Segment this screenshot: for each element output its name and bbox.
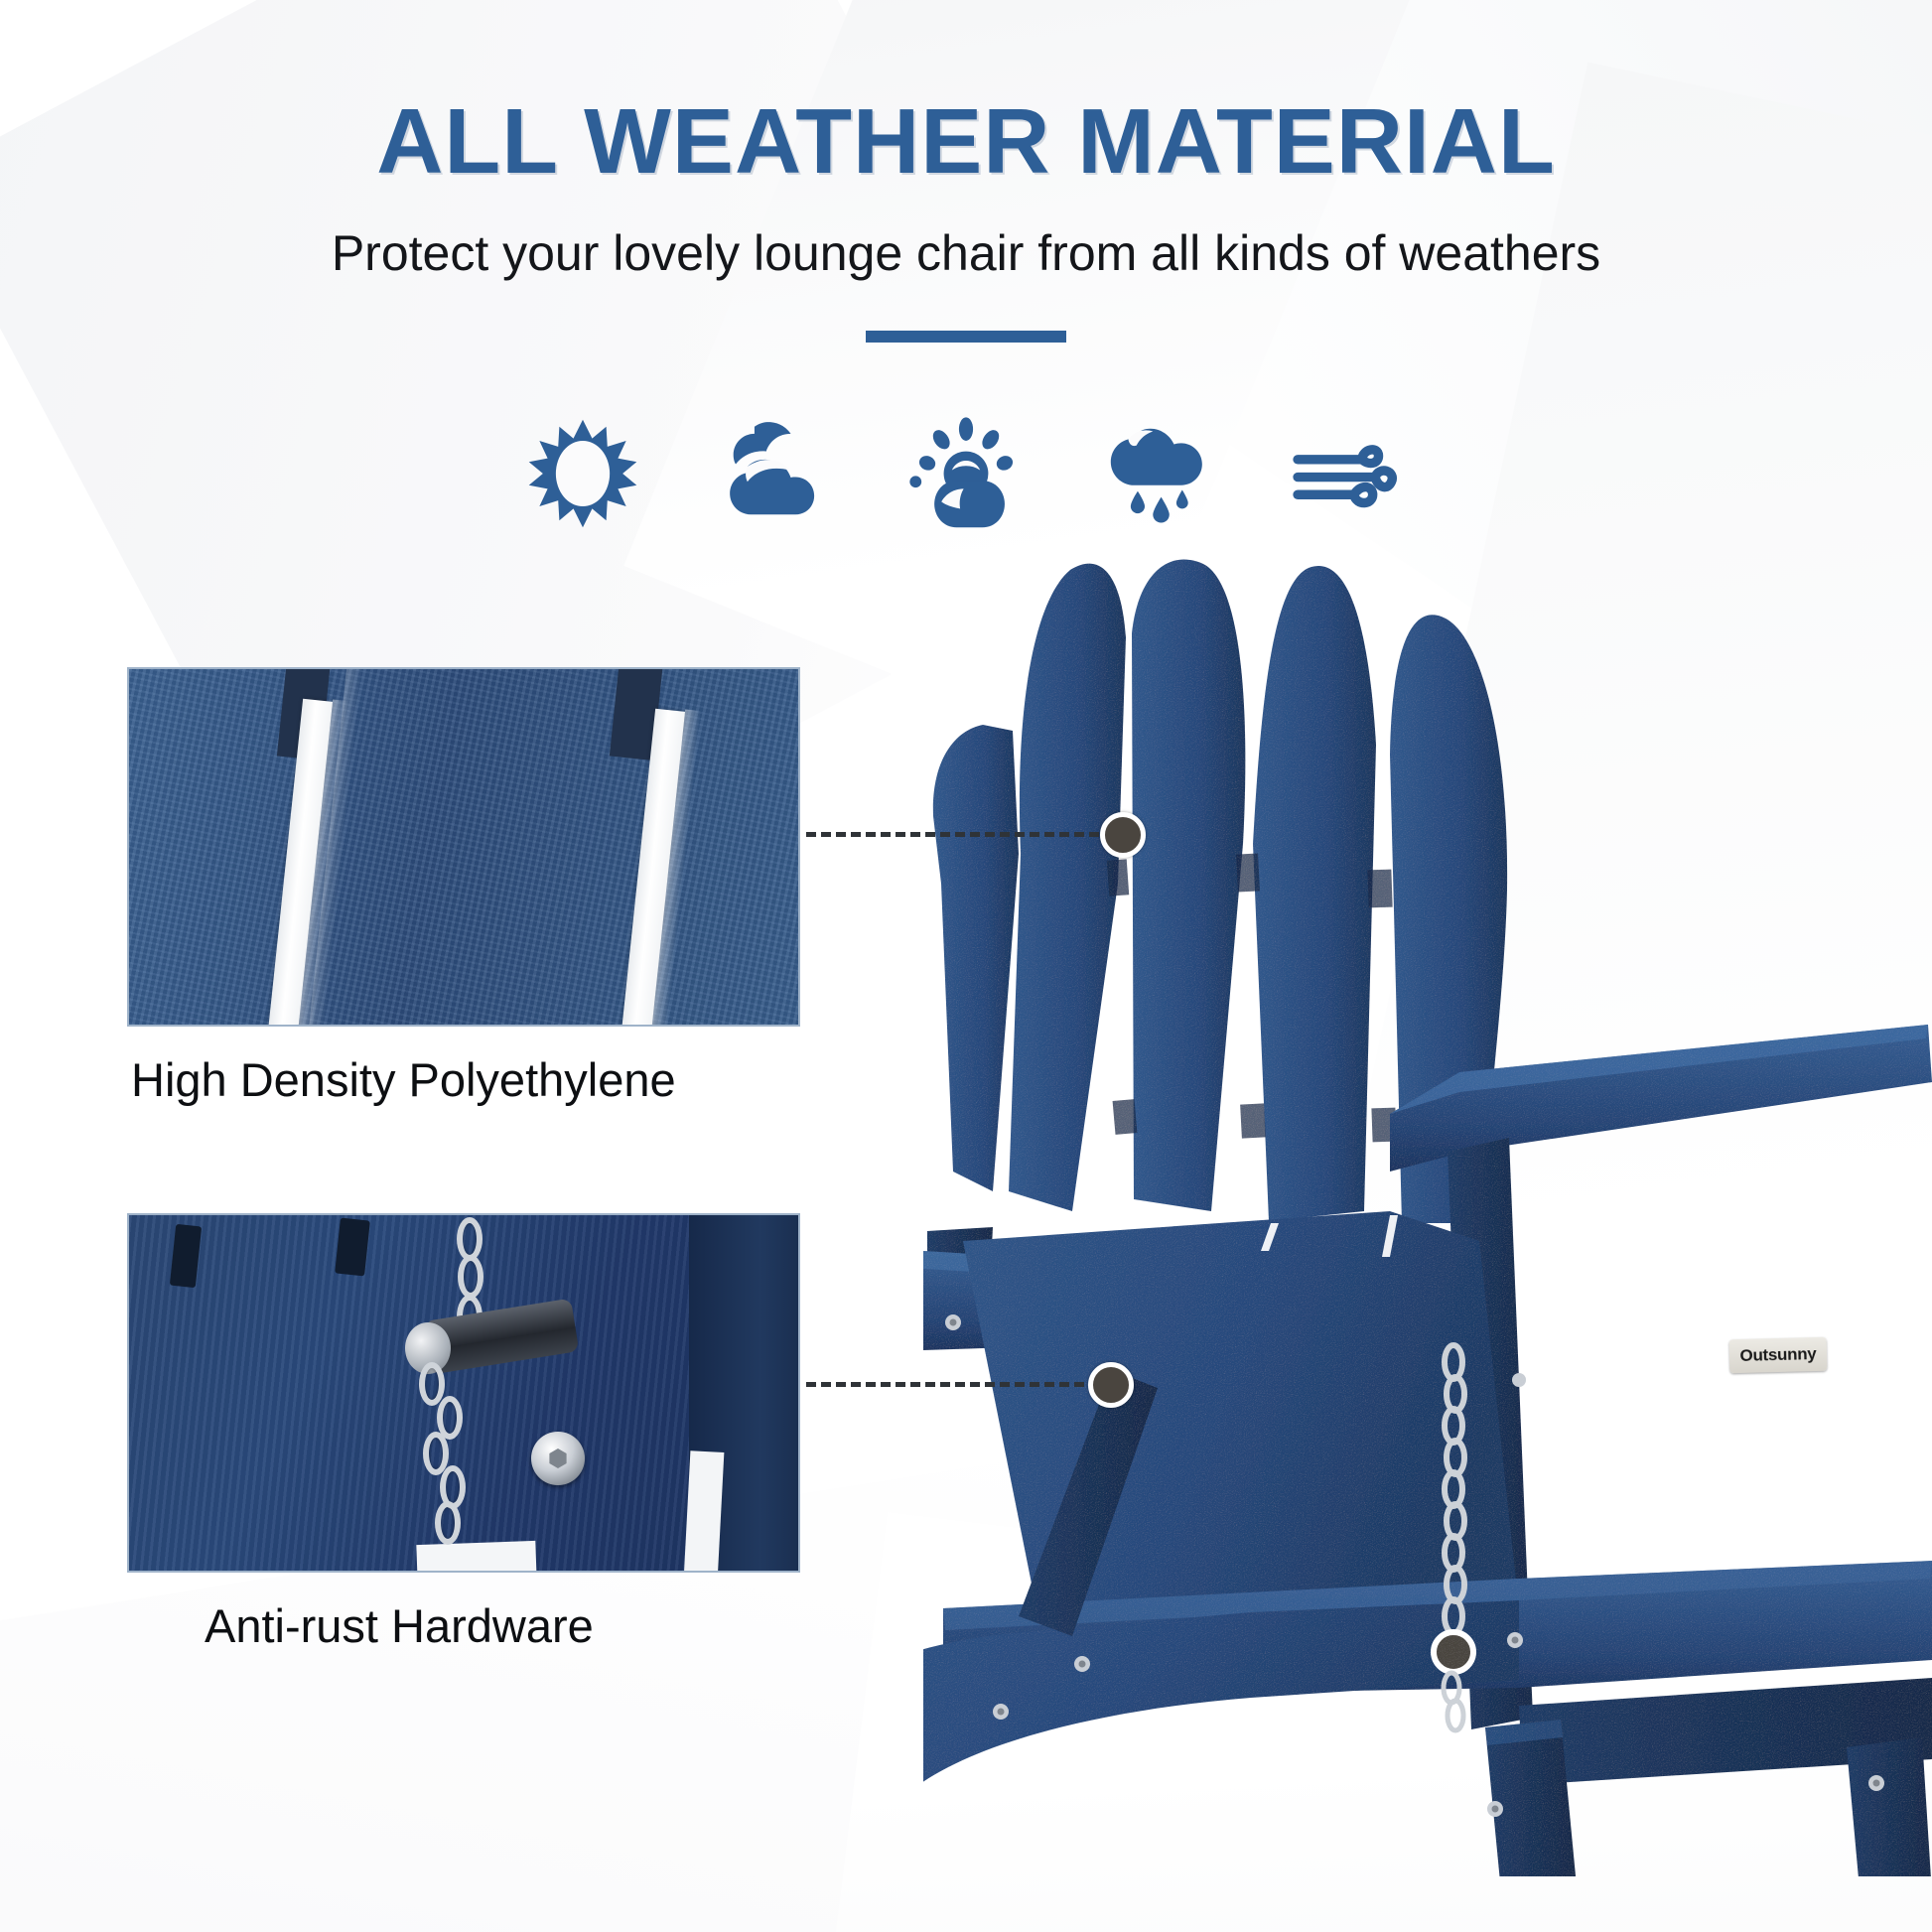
callout-marker-hdpe [1100,812,1146,858]
hardware-caption: Anti-rust Hardware [127,1598,800,1653]
partly-sunny-icon [907,415,1025,532]
background-gap [416,1541,536,1573]
chain-link [458,1255,483,1299]
slat-notch [335,1218,370,1277]
background-gap [684,1450,725,1573]
brand-name: Outsunny [1739,1344,1816,1366]
divider-bar [866,331,1066,343]
callout-line-hardware [806,1382,1099,1387]
hdpe-caption: High Density Polyethylene [127,1052,800,1107]
chair-illustration [923,556,1932,1876]
feature-card-hardware: Anti-rust Hardware [127,1213,800,1653]
rain-cloud-icon [1099,415,1216,532]
wind-icon [1291,415,1408,532]
sun-icon [524,415,641,532]
callout-marker-hardware [1088,1362,1134,1408]
rear-leg [1847,1737,1932,1876]
hardware-photo [127,1213,800,1573]
back-slat [1253,566,1376,1221]
callout-line-hdpe [806,832,1114,837]
cloudy-icon [716,415,833,532]
header: ALL WEATHER MATERIAL Protect your lovely… [0,0,1932,343]
weather-icon-row [0,415,1932,532]
back-slat [933,725,1019,1191]
chain-link [435,1501,461,1545]
feature-card-hdpe: High Density Polyethylene [127,667,800,1107]
chain-link [419,1362,445,1406]
back-slat [1132,560,1245,1211]
back-slat [1009,564,1126,1211]
page-title: ALL WEATHER MATERIAL [0,95,1932,188]
brand-badge: Outsunny [1729,1337,1828,1374]
hdpe-photo [127,667,800,1027]
adirondack-chair [923,556,1932,1876]
chain-ring [1434,1632,1473,1672]
page-subtitle: Protect your lovely lounge chair from al… [0,225,1932,283]
chair-body [923,560,1932,1876]
anti-rust-screw [531,1432,585,1485]
